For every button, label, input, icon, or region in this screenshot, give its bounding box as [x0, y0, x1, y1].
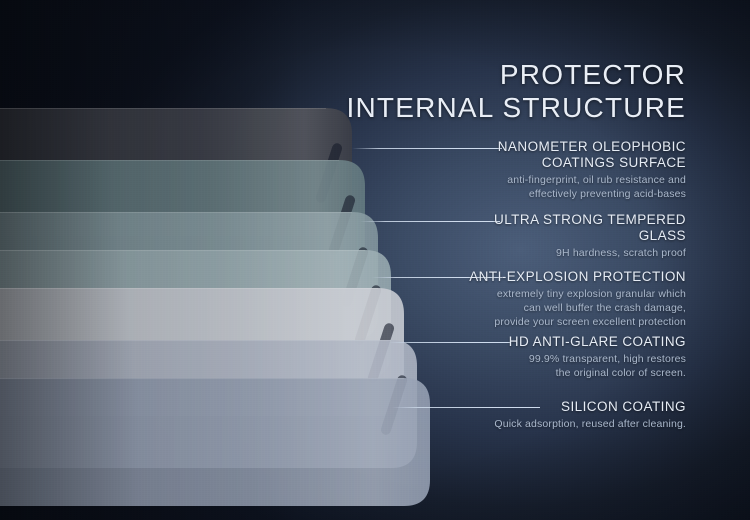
protector-internal-structure-infographic: PROTECTOR INTERNAL STRUCTURE NANOMETER O…	[0, 0, 750, 520]
background-noise-texture	[0, 0, 750, 520]
